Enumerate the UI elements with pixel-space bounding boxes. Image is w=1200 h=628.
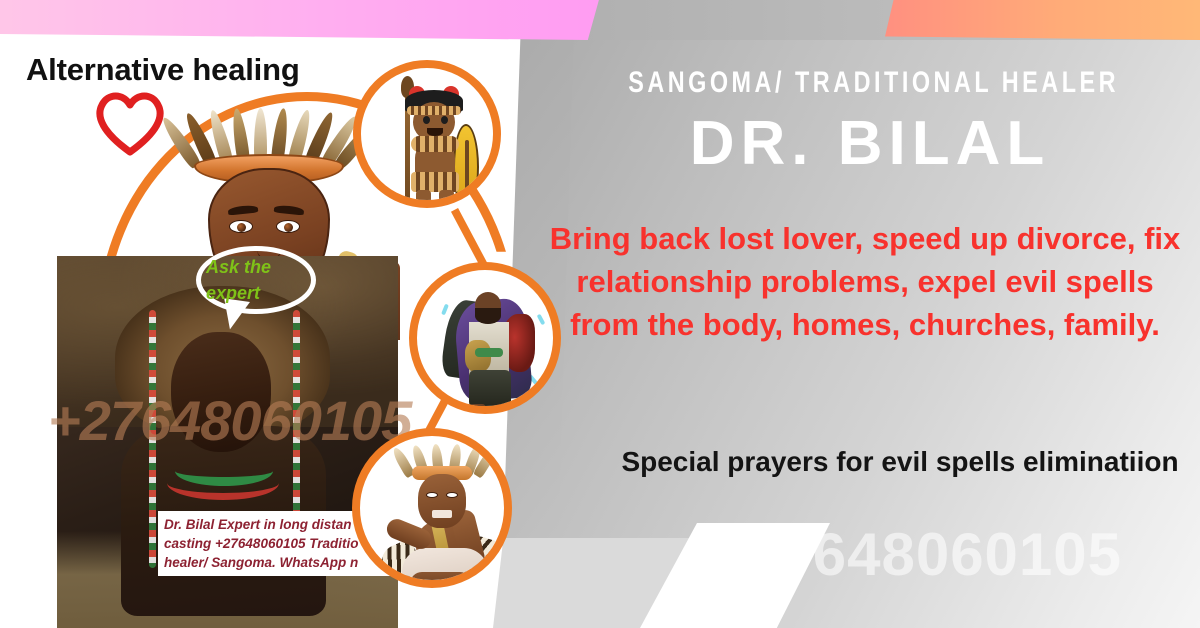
robe-scarf bbox=[475, 348, 503, 357]
portrait-brow-left bbox=[228, 204, 259, 215]
services-text: Bring back lost lover, speed up divorce,… bbox=[540, 218, 1190, 346]
heart-icon bbox=[92, 88, 168, 156]
circle-badge-robed-healer[interactable] bbox=[409, 262, 561, 414]
phone-watermark: +27648060105 bbox=[630, 520, 1200, 589]
warrior-eye-left bbox=[423, 116, 430, 124]
photo-caption-line-3: healer/ Sangoma. WhatsApp n bbox=[164, 553, 400, 572]
crouch-wrap-cloth bbox=[402, 548, 488, 588]
crouch-face bbox=[418, 474, 466, 528]
robe-foot-left bbox=[469, 404, 486, 412]
portrait-eye-left bbox=[229, 220, 253, 233]
spark-one bbox=[441, 304, 449, 316]
warrior-headband bbox=[407, 106, 461, 115]
shield-icon bbox=[453, 124, 479, 208]
crouch-mouth bbox=[432, 510, 452, 518]
warrior-skirt bbox=[411, 172, 459, 192]
top-orange-strip bbox=[885, 0, 1200, 40]
page-title: Alternative healing bbox=[26, 52, 300, 88]
kicker-text: SANGOMA/ TRADITIONAL HEALER bbox=[628, 66, 1112, 100]
brand-name: DR. BILAL bbox=[560, 108, 1180, 179]
warrior-eye-right bbox=[441, 116, 448, 124]
prayers-text: Special prayers for evil spells eliminat… bbox=[605, 443, 1195, 482]
robe-pants bbox=[469, 370, 511, 408]
circle-badge-crouching-healer[interactable] bbox=[352, 428, 512, 588]
crouch-eye-left bbox=[426, 492, 438, 498]
top-pink-strip bbox=[0, 0, 600, 40]
warrior-leg-left bbox=[416, 190, 431, 208]
crouch-eye-right bbox=[446, 492, 458, 498]
robe-beard bbox=[475, 308, 501, 324]
speech-bubble-text: Ask the expert bbox=[206, 254, 310, 306]
warrior-mouth bbox=[427, 128, 443, 136]
portrait-brow-right bbox=[274, 204, 305, 215]
warrior-fur-collar bbox=[411, 136, 459, 152]
portrait-eye-right bbox=[276, 220, 300, 233]
circle-badge-warrior[interactable] bbox=[353, 60, 501, 208]
photo-subject-necklace-red bbox=[167, 466, 279, 500]
poster-canvas: Alternative healing bbox=[0, 0, 1200, 628]
photo-phone-watermark: +27648060105 bbox=[48, 388, 411, 453]
crouch-leg bbox=[410, 572, 472, 588]
